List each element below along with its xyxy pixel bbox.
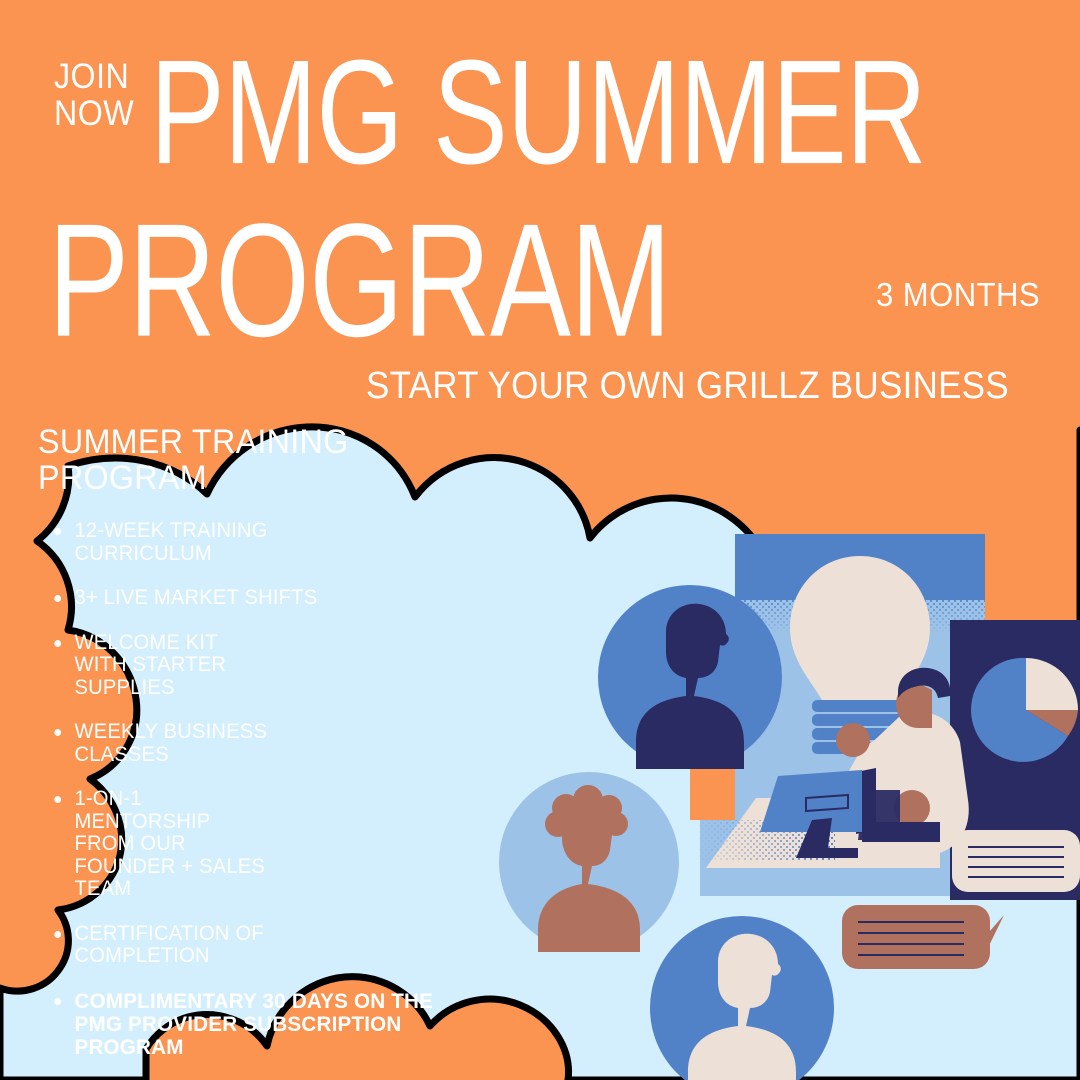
section-title: SUMMER TRAINING PROGRAM bbox=[38, 424, 485, 496]
benefit-item: COMPLIMENTARY 30 DAYS ON THE PMG PROVIDE… bbox=[38, 990, 489, 1059]
benefits-list: 12-WEEK TRAINING CURRICULUM 3+ LIVE MARK… bbox=[38, 520, 508, 1059]
bullet-dot-icon bbox=[54, 595, 61, 602]
page-title-line-2: PROGRAM bbox=[48, 200, 671, 361]
speech-bubble-cream bbox=[952, 830, 1080, 892]
benefit-item: WELCOME KIT WITH STARTER SUPPLIES bbox=[38, 632, 489, 700]
eyebrow-join-now: JOIN NOW bbox=[54, 58, 134, 132]
bullet-dot-icon bbox=[54, 998, 61, 1005]
bullet-dot-icon bbox=[54, 528, 61, 535]
benefits-column: SUMMER TRAINING PROGRAM 12-WEEK TRAINING… bbox=[38, 424, 508, 1080]
benefit-label: 1-ON-1 MENTORSHIP FROM OUR FOUNDER + SAL… bbox=[74, 787, 265, 900]
benefit-item: WEEKLY BUSINESS CLASSES bbox=[38, 721, 489, 766]
benefit-item: 12-WEEK TRAINING CURRICULUM bbox=[38, 520, 489, 565]
poster-canvas: JOIN NOW PMG SUMMER PROGRAM 3 MONTHS STA… bbox=[0, 0, 1080, 1080]
tagline: START YOUR OWN GRILLZ BUSINESS bbox=[366, 365, 1009, 408]
bullet-dot-icon bbox=[54, 640, 61, 647]
avatar-circle-navy bbox=[598, 585, 782, 769]
speech-bubble-brown bbox=[842, 905, 1004, 969]
benefit-label: COMPLIMENTARY 30 DAYS ON THE PMG PROVIDE… bbox=[74, 989, 433, 1059]
duration-badge: 3 MONTHS bbox=[876, 276, 1040, 314]
benefit-label: 3+ LIVE MARKET SHIFTS bbox=[74, 586, 317, 609]
bullet-dot-icon bbox=[54, 729, 61, 736]
bullet-dot-icon bbox=[54, 796, 61, 803]
benefit-item: CERTIFICATION OF COMPLETION bbox=[38, 923, 489, 968]
benefit-label: WELCOME KIT WITH STARTER SUPPLIES bbox=[74, 631, 226, 699]
benefit-item: 1-ON-1 MENTORSHIP FROM OUR FOUNDER + SAL… bbox=[38, 788, 489, 901]
benefit-label: WEEKLY BUSINESS CLASSES bbox=[74, 720, 267, 766]
bullet-dot-icon bbox=[54, 931, 61, 938]
benefit-label: 12-WEEK TRAINING CURRICULUM bbox=[74, 519, 267, 565]
page-title-line-1: PMG SUMMER bbox=[150, 38, 926, 186]
benefit-item: 3+ LIVE MARKET SHIFTS bbox=[38, 587, 489, 610]
avatar-circle-brown bbox=[499, 772, 679, 952]
hand-upper bbox=[836, 723, 870, 757]
benefit-label: CERTIFICATION OF COMPLETION bbox=[74, 922, 263, 968]
